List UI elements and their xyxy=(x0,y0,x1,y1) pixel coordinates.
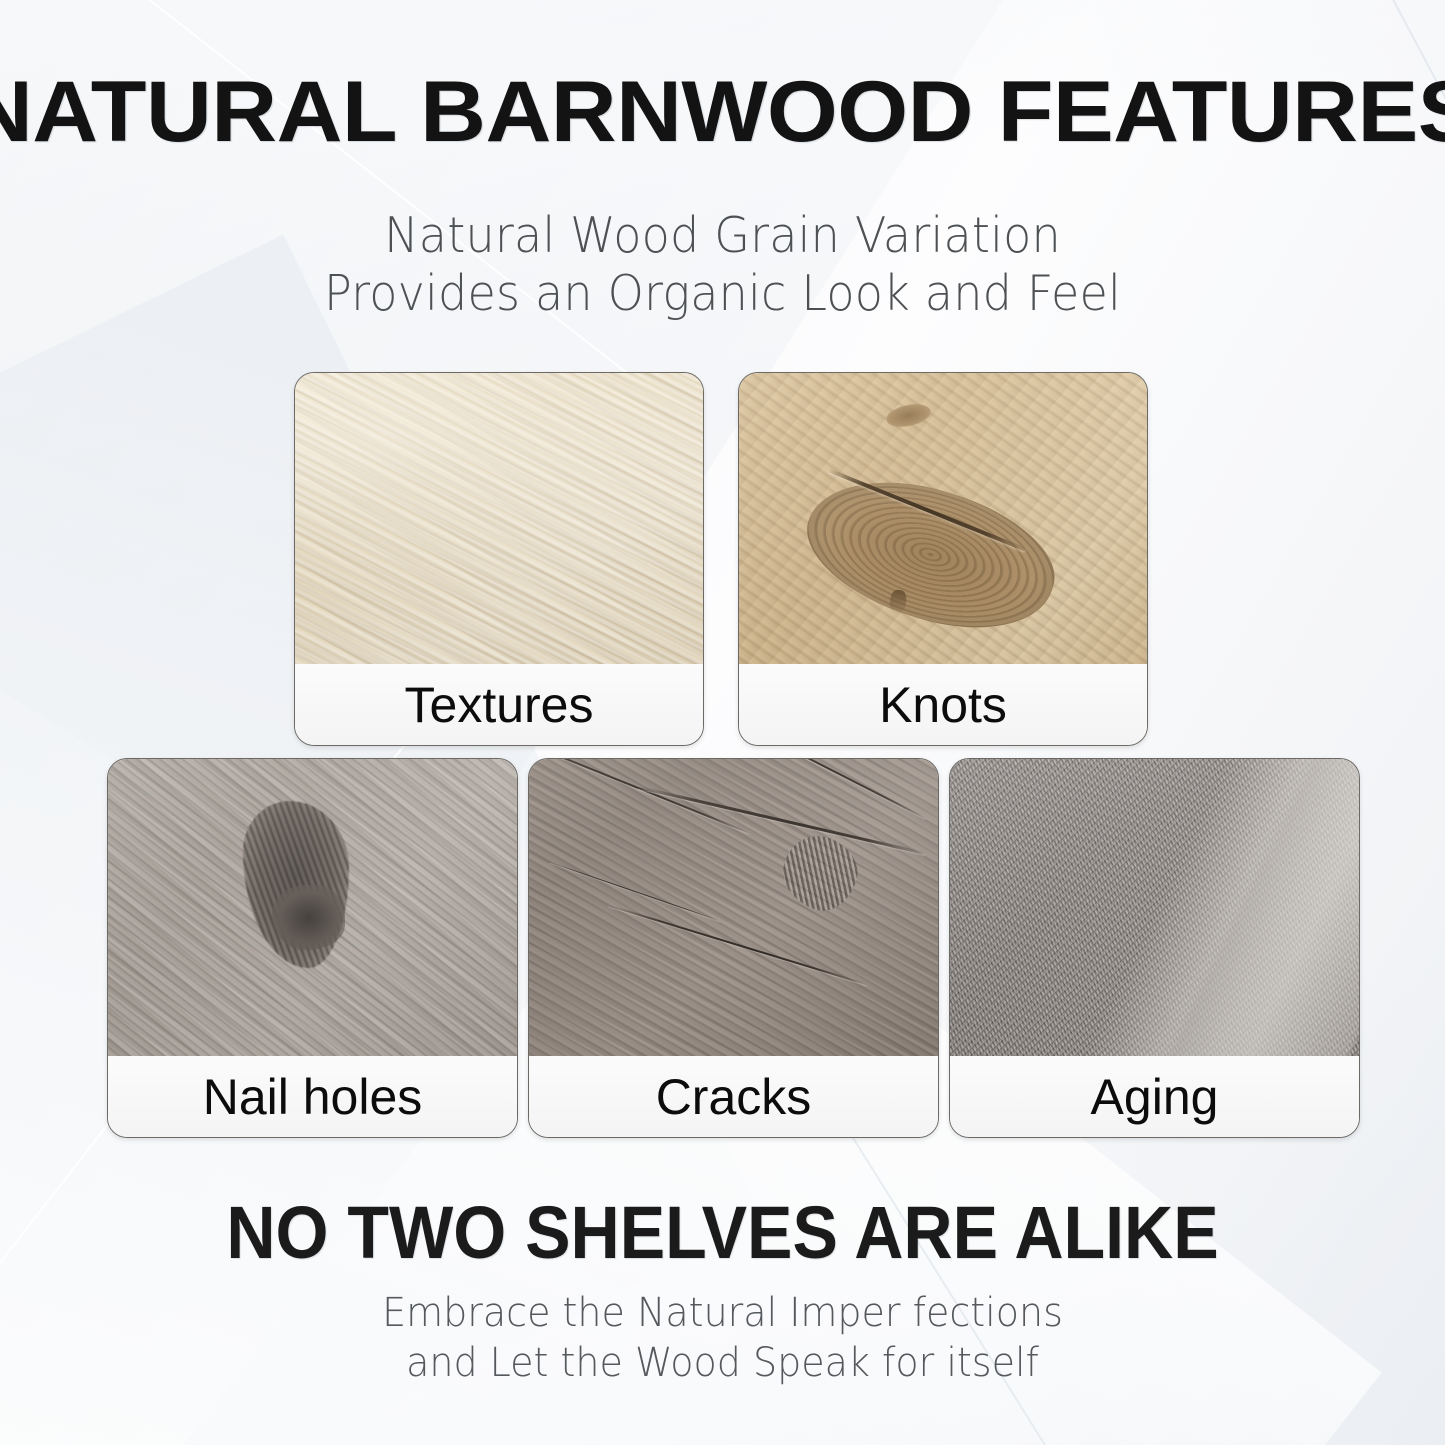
feature-card-label: Textures xyxy=(295,664,703,745)
cracked-wood-texture-icon xyxy=(529,759,938,1058)
wood-grain-texture-icon xyxy=(295,373,703,666)
feature-card-aging[interactable]: Aging xyxy=(949,758,1360,1138)
large-knot-icon xyxy=(791,456,1071,653)
swatch-knots xyxy=(739,373,1147,666)
swatch-textures xyxy=(295,373,703,666)
footer-title: NO TWO SHELVES ARE ALIKE xyxy=(58,1190,1387,1275)
swatch-cracks xyxy=(529,759,938,1058)
feature-card-knots[interactable]: Knots xyxy=(738,372,1148,746)
page-subtitle-line-2: Provides an Organic Look and Feel xyxy=(43,265,1401,323)
page-title: NATURAL BARNWOOD FEATURES xyxy=(0,63,1445,162)
feature-card-nail-holes[interactable]: Nail holes xyxy=(107,758,518,1138)
feature-card-label: Cracks xyxy=(529,1056,938,1137)
footer-subtitle-line-2: and Let the Wood Speak for itself xyxy=(36,1338,1409,1388)
feature-card-cracks[interactable]: Cracks xyxy=(528,758,939,1138)
feature-card-label: Nail holes xyxy=(108,1056,517,1137)
page-subtitle-line-1: Natural Wood Grain Variation xyxy=(43,207,1401,265)
nail-hole-icon-2 xyxy=(272,885,346,951)
footer-subtitle-line-1: Embrace the Natural Imper fections xyxy=(36,1288,1409,1338)
knot-detail-group xyxy=(739,373,1147,666)
small-knot-icon xyxy=(884,401,932,430)
swatch-nail-holes xyxy=(108,759,517,1058)
swatch-aging xyxy=(950,759,1359,1058)
feature-card-label: Knots xyxy=(739,664,1147,745)
page-subtitle: Natural Wood Grain Variation Provides an… xyxy=(0,207,1445,323)
feature-card-label: Aging xyxy=(950,1056,1359,1137)
feature-card-textures[interactable]: Textures xyxy=(294,372,704,746)
footer-subtitle: Embrace the Natural Imper fections and L… xyxy=(0,1288,1445,1388)
